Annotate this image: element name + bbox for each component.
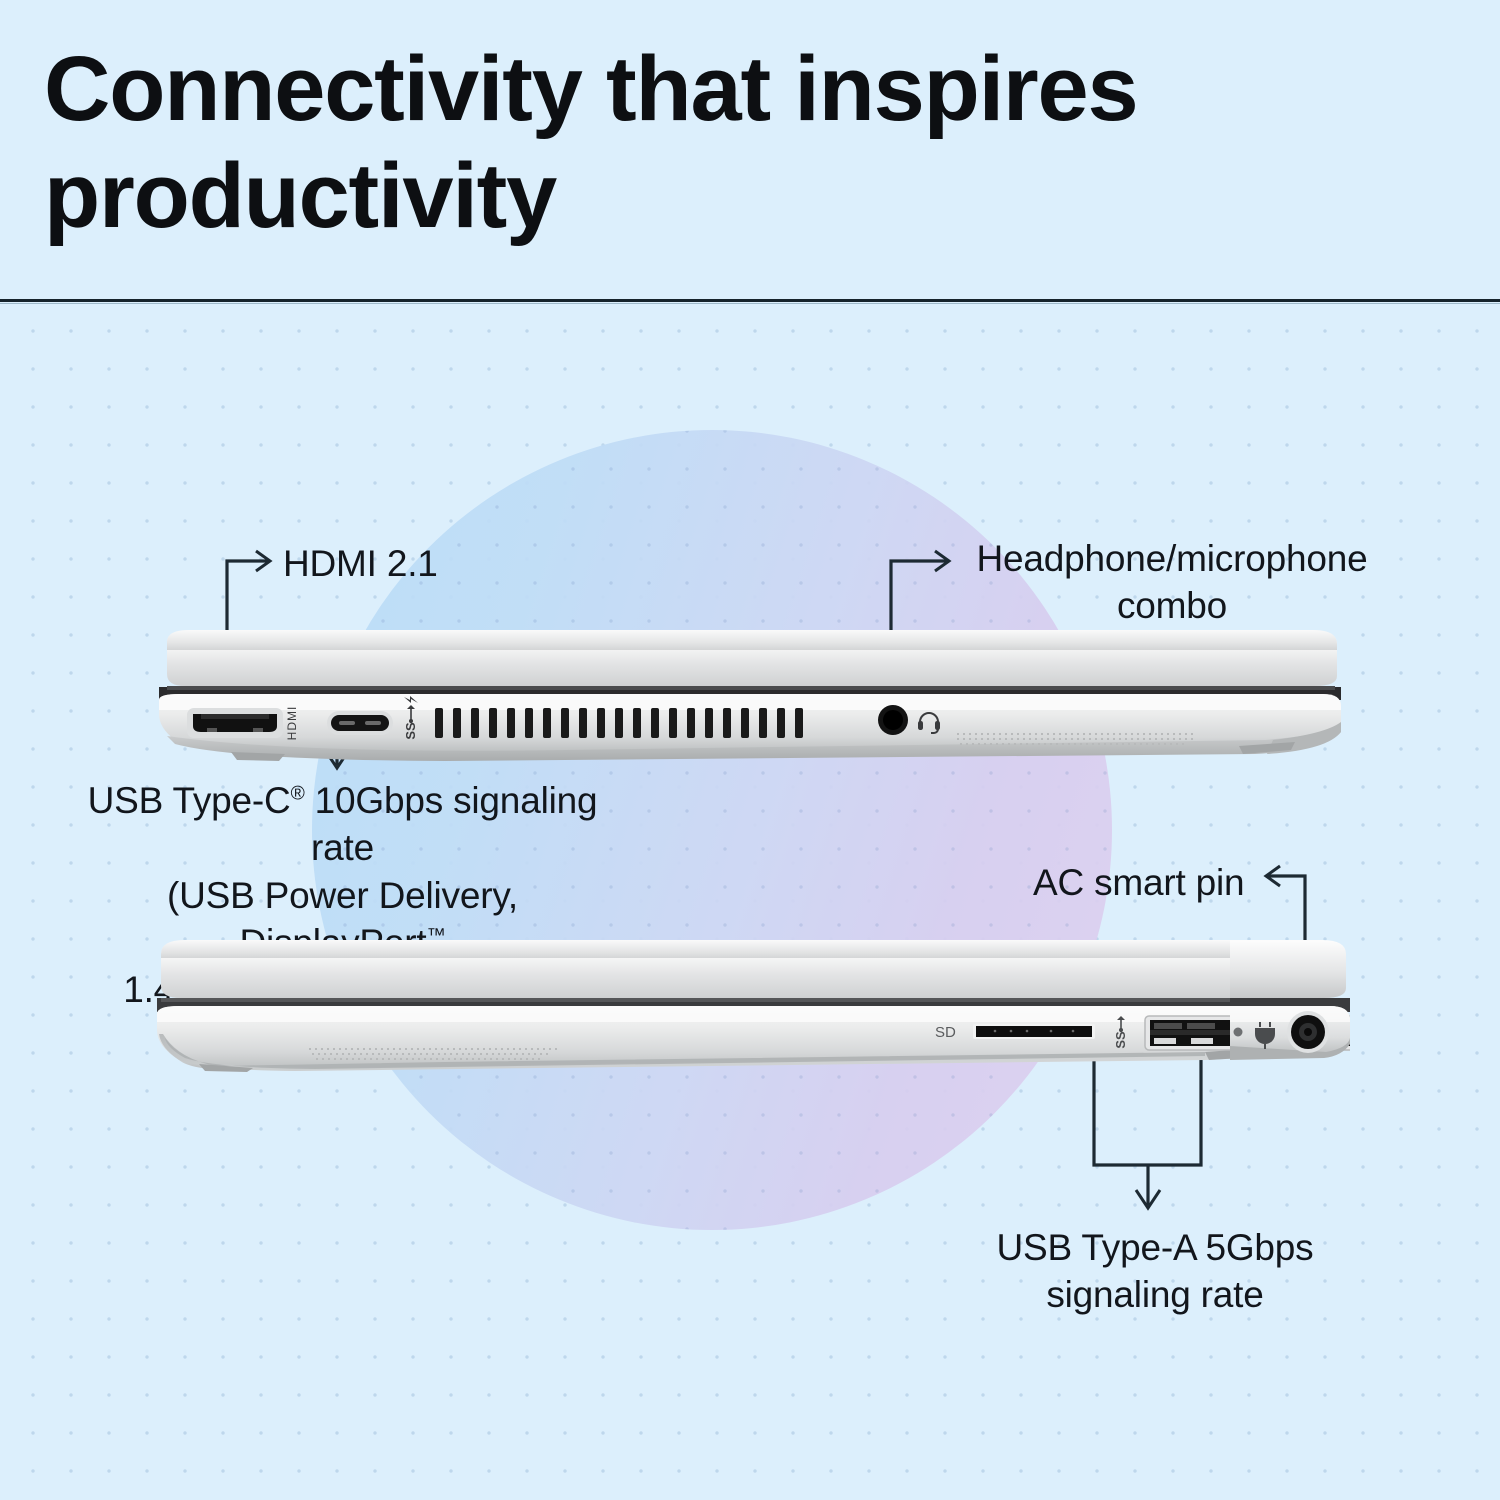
- hdmi-port: [187, 708, 283, 738]
- headphone-jack: [878, 705, 908, 735]
- laptop-right-side-view: SD SS SS: [145, 938, 1350, 1073]
- svg-text:SS: SS: [403, 722, 418, 740]
- registered-mark: ®: [291, 784, 305, 805]
- infographic-canvas: Connectivity that inspires productivity: [0, 0, 1500, 1500]
- power-led-indicator: [1234, 1028, 1243, 1037]
- headphone-line-1: Headphone/microphone: [977, 538, 1368, 579]
- sd-slot-label: SD: [935, 1024, 956, 1041]
- svg-text:SS: SS: [1113, 1031, 1128, 1049]
- ac-connector-cluster: [1230, 938, 1360, 1073]
- headphone-line-2: combo: [1117, 585, 1227, 626]
- sd-card-slot: [973, 1024, 1095, 1039]
- hdmi-port-label: HDMI: [285, 706, 299, 741]
- laptop-left-side-view: HDMI SS: [145, 628, 1350, 763]
- usbc-line-1b: 10Gbps signaling rate: [305, 780, 598, 868]
- usba-line-1: USB Type-A 5Gbps: [997, 1227, 1314, 1268]
- callout-label-headphone: Headphone/microphone combo: [962, 535, 1382, 630]
- usba-line-2: signaling rate: [1046, 1274, 1263, 1315]
- vent-grille: [435, 708, 803, 738]
- callout-label-hdmi: HDMI 2.1: [283, 540, 438, 587]
- usb-c-port: [327, 711, 393, 735]
- ac-smart-pin-connector: [1287, 1011, 1329, 1053]
- callout-label-acpin: AC smart pin: [1033, 859, 1244, 906]
- usbc-line-1a: USB Type-C: [88, 780, 291, 821]
- callout-label-usba: USB Type-A 5Gbps signaling rate: [990, 1224, 1320, 1319]
